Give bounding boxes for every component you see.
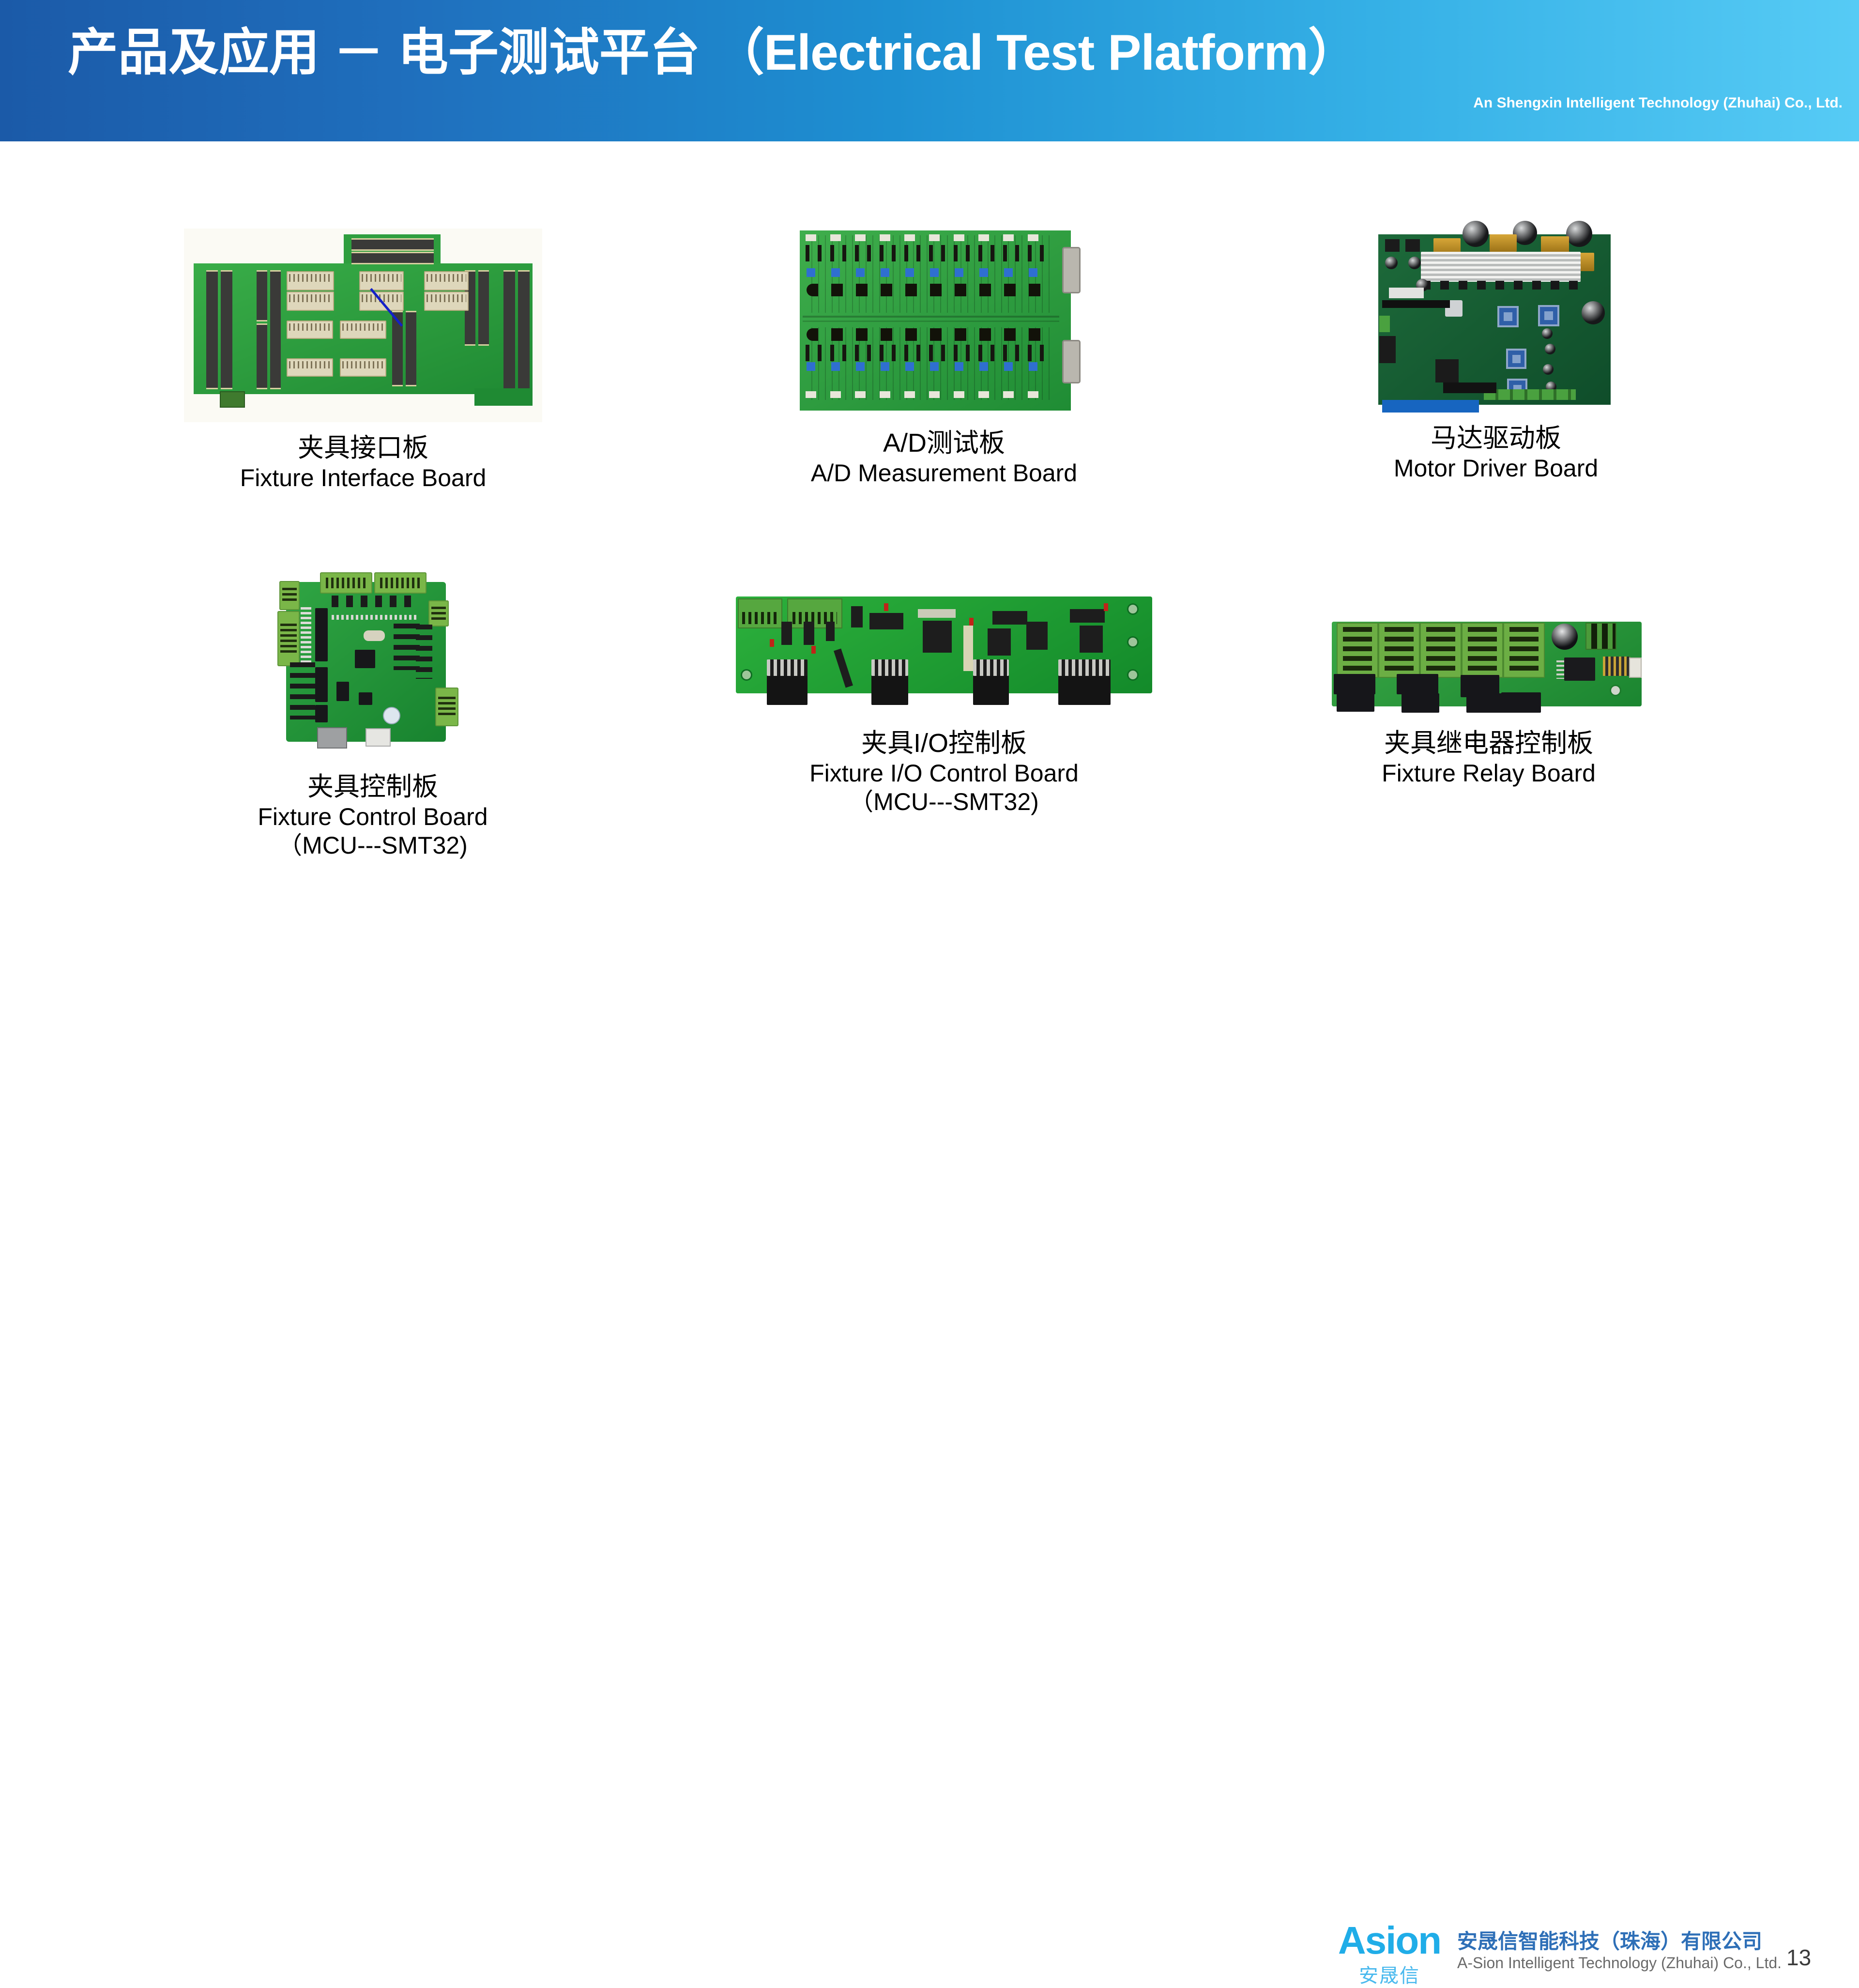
product-card-motor-driver-board[interactable]: 马达驱动板 Motor Driver Board [1278,219,1714,483]
product-name-cn: 夹具继电器控制板 [1259,728,1719,759]
product-name-sub: （MCU---SMT32) [155,831,591,860]
logo-wordmark-cn: 安晟信 [1326,1960,1452,1988]
product-caption-fixture-control-board: 夹具控制板 Fixture Control Board （MCU---SMT32… [155,772,591,860]
product-name-en: Fixture I/O Control Board [702,759,1186,788]
product-name-en: Fixture Relay Board [1259,759,1719,788]
product-name-cn: 马达驱动板 [1278,423,1714,454]
slide-footer: Asion 安晟信 安晟信智能科技（珠海）有限公司 A-Sion Intelli… [0,949,1859,1046]
page-title-cn-2: 电子测试平台 [398,25,700,81]
product-name-cn: 夹具I/O控制板 [702,728,1186,759]
pcb-image-motor-driver-board [1368,219,1624,413]
pcb-image-ad-measurement-board [794,224,1094,417]
pcb-image-fixture-interface-board [184,229,542,422]
page-number: 13 [1786,1944,1811,1971]
logo-wordmark: Asion [1326,1922,1452,1959]
footer-company-en: A-Sion Intelligent Technology (Zhuhai) C… [1457,1954,1782,1972]
product-caption-ad-measurement-board: A/D测试板 A/D Measurement Board [726,428,1162,488]
product-name-en: Fixture Control Board [155,803,591,831]
product-caption-fixture-interface-board: 夹具接口板 Fixture Interface Board [145,433,581,492]
product-caption-motor-driver-board: 马达驱动板 Motor Driver Board [1278,423,1714,483]
pcb-image-fixture-relay-board [1329,616,1648,718]
product-card-fixture-relay-board[interactable]: 夹具继电器控制板 Fixture Relay Board [1259,616,1719,788]
product-card-fixture-interface-board[interactable]: 夹具接口板 Fixture Interface Board [145,229,581,492]
pcb-image-fixture-control-board [269,567,477,761]
product-name-en: Motor Driver Board [1278,454,1714,483]
product-name-en: A/D Measurement Board [726,459,1162,488]
product-card-fixture-control-board[interactable]: 夹具控制板 Fixture Control Board （MCU---SMT32… [155,567,591,860]
slide-header: 产品及应用 － 电子测试平台 （Electrical Test Platform… [0,0,1859,141]
header-company-name: An Shengxin Intelligent Technology (Zhuh… [1473,95,1843,111]
product-name-cn: 夹具接口板 [145,433,581,464]
product-caption-fixture-relay-board: 夹具继电器控制板 Fixture Relay Board [1259,728,1719,788]
product-grid: 夹具接口板 Fixture Interface Board A/D测试板 A/D… [0,141,1859,945]
product-name-en: Fixture Interface Board [145,464,581,492]
company-logo: Asion 安晟信 [1326,1922,1452,1988]
page-title-en: （Electrical Test Platform） [714,25,1358,81]
product-name-cn: A/D测试板 [726,428,1162,459]
pcb-image-fixture-io-control-board [731,592,1157,718]
page-title: 产品及应用 － 电子测试平台 （Electrical Test Platform… [68,25,1358,80]
product-card-fixture-io-control-board[interactable]: 夹具I/O控制板 Fixture I/O Control Board （MCU-… [702,592,1186,816]
footer-company-cn: 安晟信智能科技（珠海）有限公司 [1457,1925,1762,1955]
product-name-cn: 夹具控制板 [155,772,591,803]
product-name-sub: （MCU---SMT32) [702,788,1186,816]
product-card-ad-measurement-board[interactable]: A/D测试板 A/D Measurement Board [726,224,1162,488]
product-caption-fixture-io-control-board: 夹具I/O控制板 Fixture I/O Control Board （MCU-… [702,728,1186,816]
page-title-cn: 产品及应用 － [68,25,384,81]
